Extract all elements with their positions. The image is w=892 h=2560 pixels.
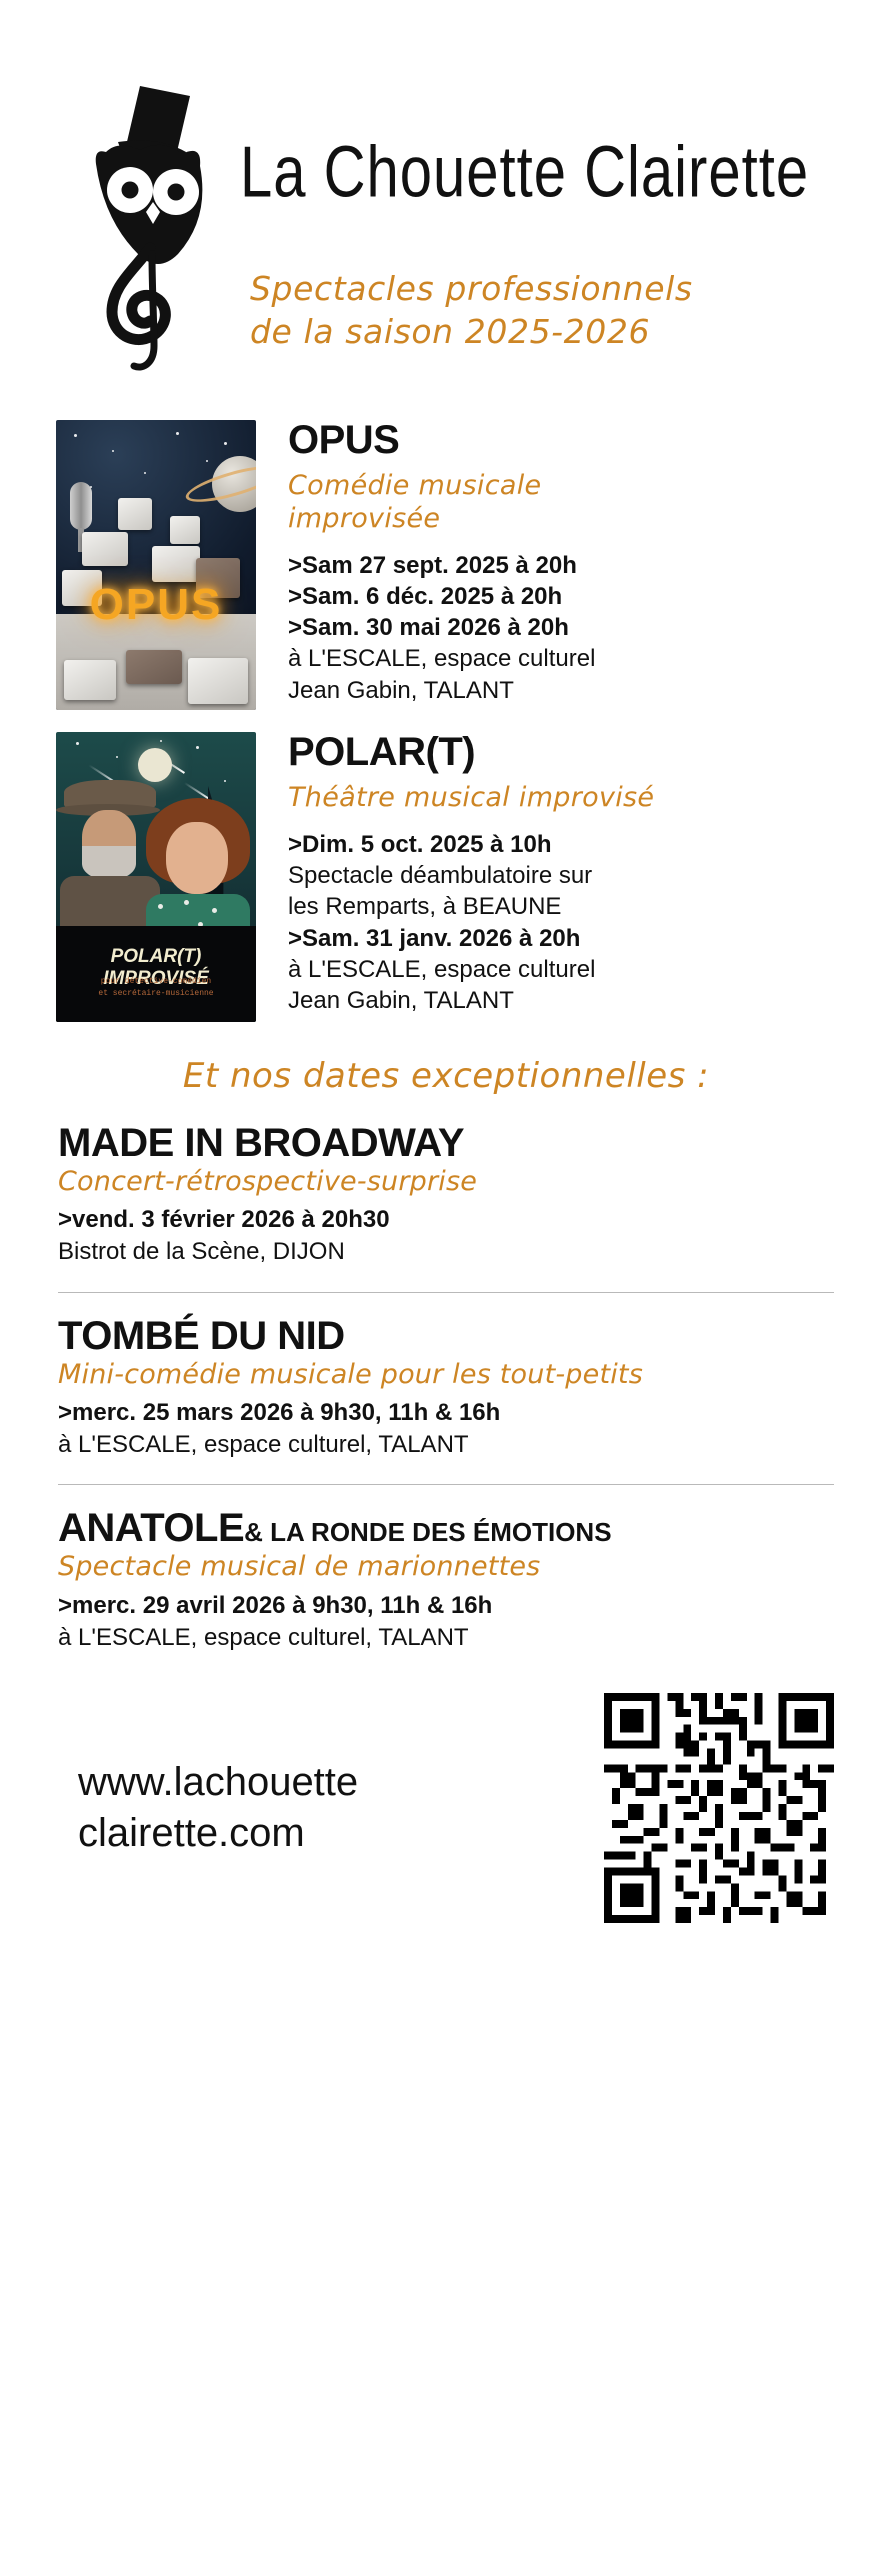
polart-date-2: >Sam. 31 janv. 2026 à 20h [288,923,878,954]
opus-venue-line2: Jean Gabin, TALANT [288,675,878,706]
website-line1: www.lachouette [78,1757,604,1808]
opus-date-1: >Sam 27 sept. 2025 à 20h [288,550,878,581]
header-subtitle-line1: Spectacles professionnels [250,268,850,311]
event-genre-made-in-broadway: Concert-rétrospective-surprise [58,1166,834,1198]
event-venue-made-in-broadway: Bistrot de la Scène, DIJON [58,1236,834,1268]
show-opus: OPUS OPUS Comédie musicale improvisée >S… [0,420,892,710]
event-anatole: ANATOLE& LA RONDE DES ÉMOTIONS Spectacle… [0,1507,892,1653]
polart-poster-sub-line2: et secrétaire-musicienne [56,988,256,1000]
polart-poster-sub-line1: pour détective-comédien [56,976,256,988]
website-link[interactable]: www.lachouette clairette.com [58,1757,604,1859]
event-venue-anatole: à L'ESCALE, espace culturel, TALANT [58,1622,834,1654]
opus-venue-line1: à L'ESCALE, espace culturel [288,643,878,674]
polart-poster-subtitle: pour détective-comédien et secrétaire-mu… [56,976,256,1000]
polart-venue-2-line2: Jean Gabin, TALANT [288,985,878,1016]
polart-venue-1-line1: Spectacle déambulatoire sur [288,860,878,891]
owl-logo-icon [78,78,238,378]
polart-poster-image: POLAR(T) IMPROVISÉ pour détective-comédi… [56,732,256,1022]
opus-genre: Comédie musicale improvisée [288,470,878,536]
event-date-anatole: >merc. 29 avril 2026 à 9h30, 11h & 16h [58,1590,834,1622]
event-genre-anatole: Spectacle musical de marionnettes [58,1551,834,1583]
header: La Chouette Clairette Spectacles profess… [0,0,892,420]
event-title-made-in-broadway: MADE IN BROADWAY [58,1122,834,1164]
event-made-in-broadway: MADE IN BROADWAY Concert-rétrospective-s… [0,1122,892,1268]
qr-code-icon[interactable] [604,1693,834,1923]
polart-date-1: >Dim. 5 oct. 2025 à 10h [288,829,878,860]
exceptional-heading: Et nos dates exceptionnelles : [0,1056,892,1096]
opus-details: OPUS Comédie musicale improvisée >Sam 27… [256,420,892,710]
opus-title: OPUS [288,420,878,460]
header-subtitle: Spectacles professionnels de la saison 2… [250,268,850,354]
event-title-tombe-du-nid: TOMBÉ DU NID [58,1315,834,1357]
opus-poster-word: OPUS [64,580,248,630]
polart-venue-2-line1: à L'ESCALE, espace culturel [288,954,878,985]
divider-2 [58,1484,834,1485]
event-venue-tombe-du-nid: à L'ESCALE, espace culturel, TALANT [58,1429,834,1461]
poster-page: La Chouette Clairette Spectacles profess… [0,0,892,2560]
website-line2: clairette.com [78,1808,604,1859]
opus-genre-line1: Comédie musicale [288,470,878,503]
opus-poster-image: OPUS [56,420,256,710]
opus-genre-line2: improvisée [288,503,878,536]
event-tombe-du-nid: TOMBÉ DU NID Mini-comédie musicale pour … [0,1315,892,1461]
event-genre-tombe-du-nid: Mini-comédie musicale pour les tout-peti… [58,1359,834,1391]
opus-date-2: >Sam. 6 déc. 2025 à 20h [288,581,878,612]
event-date-made-in-broadway: >vend. 3 février 2026 à 20h30 [58,1204,834,1236]
event-title-anatole-suffix: & LA RONDE DES ÉMOTIONS [244,1517,611,1547]
event-date-tombe-du-nid: >merc. 25 mars 2026 à 9h30, 11h & 16h [58,1397,834,1429]
event-title-anatole-main: ANATOLE [58,1506,244,1550]
polart-details: POLAR(T) Théâtre musical improvisé >Dim.… [256,732,892,1022]
page-title: La Chouette Clairette [240,130,809,214]
opus-date-3: >Sam. 30 mai 2026 à 20h [288,612,878,643]
show-polart: POLAR(T) IMPROVISÉ pour détective-comédi… [0,732,892,1022]
header-subtitle-line2: de la saison 2025-2026 [250,311,850,354]
polart-genre: Théâtre musical improvisé [288,782,878,815]
polart-venue-1-line2: les Remparts, à BEAUNE [288,891,878,922]
divider-1 [58,1292,834,1293]
footer: www.lachouette clairette.com [0,1659,892,1923]
polart-title: POLAR(T) [288,732,878,772]
event-title-anatole: ANATOLE& LA RONDE DES ÉMOTIONS [58,1507,834,1549]
